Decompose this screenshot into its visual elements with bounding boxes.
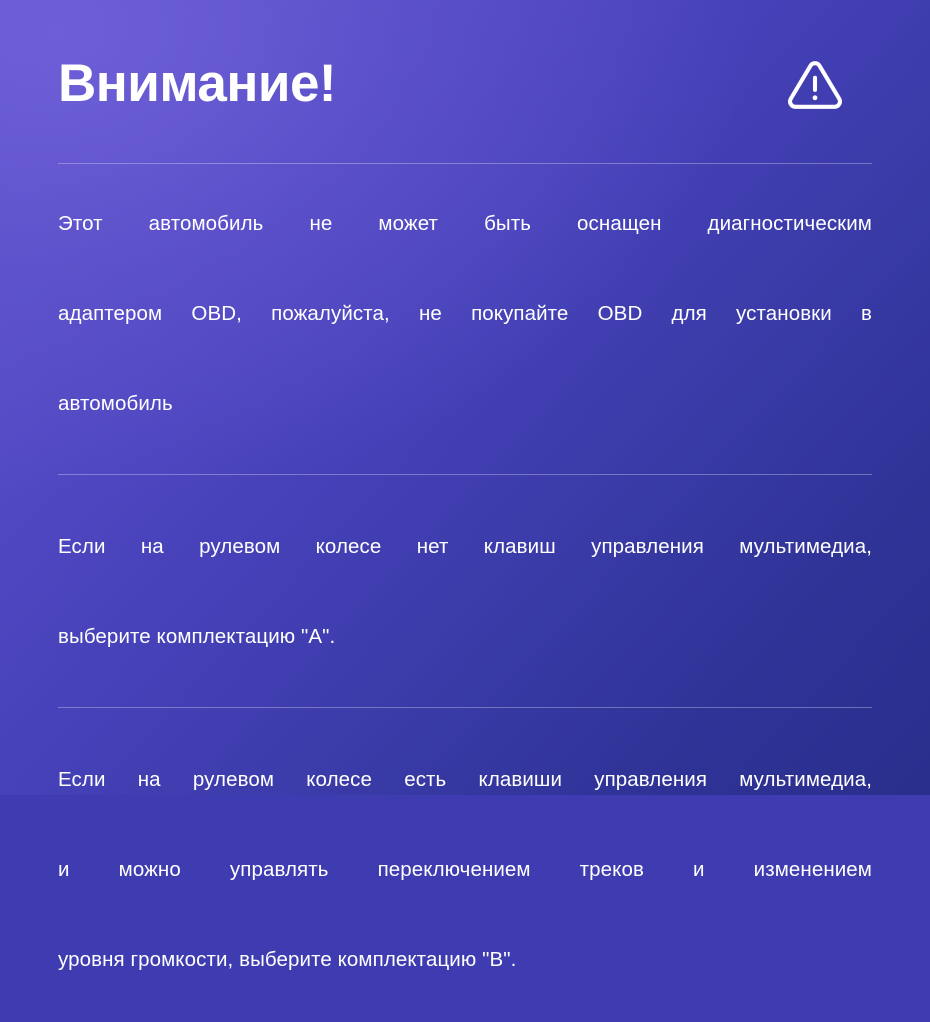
notice-line: и можно управлять переключением треков и… [58,847,872,937]
notice-header: Внимание! [58,0,872,163]
page-title: Внимание! [58,57,336,110]
notice-line: Если на рулевом колесе нет клавиш управл… [58,524,872,614]
warning-triangle-icon [784,52,872,116]
warning-notice-card: Внимание! Этот автомобиль не может быть … [0,0,930,795]
notice-line: уровня громкости, выберите комплектацию … [58,948,516,971]
notice-line: Этот автомобиль не может быть оснащен ди… [58,201,872,291]
notice-line: адаптером OBD, пожалуйста, не покупайте … [58,291,872,381]
notice-line: выберите комплектацию "A". [58,625,335,648]
notice-paragraph: Этот автомобиль не может быть оснащен ди… [58,201,872,426]
notice-block-variant-a: Если на рулевом колесе нет клавиш управл… [58,475,872,707]
notice-block-variant-b: Если на рулевом колесе есть клавиши упра… [58,708,872,1022]
notice-line: Если на рулевом колесе есть клавиши упра… [58,757,872,847]
notice-block-obd-warning: Этот автомобиль не может быть оснащен ди… [58,164,872,474]
notice-line: автомобиль [58,392,173,415]
notice-paragraph: Если на рулевом колесе нет клавиш управл… [58,524,872,659]
notice-paragraph: Если на рулевом колесе есть клавиши упра… [58,757,872,982]
